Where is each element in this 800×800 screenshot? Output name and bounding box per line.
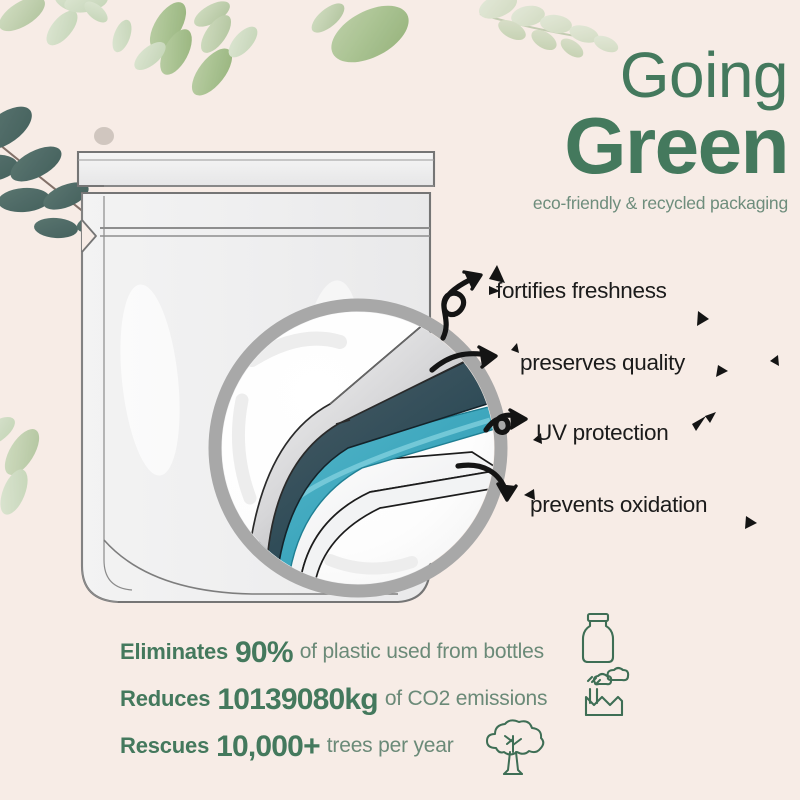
curly-arrow-icon bbox=[443, 272, 481, 338]
stats-block: Eliminates 90% of plastic used from bott… bbox=[120, 628, 720, 769]
feature-label-uv-protection: UV protection bbox=[536, 420, 668, 446]
stat-row-co2: Reduces 10139080kg of CO2 emissions bbox=[120, 675, 720, 722]
factory-icon bbox=[578, 665, 630, 719]
stat-value: 10139080kg bbox=[217, 683, 378, 717]
stat-tail: of CO2 emissions bbox=[385, 687, 548, 711]
stat-tail: of plastic used from bottles bbox=[300, 640, 544, 664]
title-line-going: Going bbox=[448, 44, 788, 106]
stat-value: 10,000+ bbox=[216, 730, 320, 764]
magnifier-lens bbox=[215, 300, 512, 591]
stat-lead: Eliminates bbox=[120, 639, 228, 665]
tree-icon bbox=[476, 718, 550, 780]
bottle-icon bbox=[575, 612, 621, 666]
sparkle-marks bbox=[489, 265, 779, 529]
feature-label-fortifies-freshness: fortifies freshness bbox=[496, 278, 667, 304]
stat-lead: Reduces bbox=[120, 686, 210, 712]
stat-value: 90% bbox=[235, 636, 293, 670]
infographic-canvas: Going Green eco-friendly & recycled pack… bbox=[0, 0, 800, 800]
title-line-green: Green bbox=[448, 108, 788, 184]
stat-row-plastic: Eliminates 90% of plastic used from bott… bbox=[120, 628, 720, 675]
stat-row-trees: Rescues 10,000+ trees per year bbox=[120, 722, 720, 769]
feature-label-prevents-oxidation: prevents oxidation bbox=[530, 492, 707, 518]
headline-subtitle: eco-friendly & recycled packaging bbox=[448, 193, 788, 214]
stat-lead: Rescues bbox=[120, 733, 209, 759]
stat-tail: trees per year bbox=[327, 734, 454, 758]
feature-label-preserves-quality: preserves quality bbox=[520, 350, 685, 376]
headline-block: Going Green eco-friendly & recycled pack… bbox=[448, 44, 788, 214]
